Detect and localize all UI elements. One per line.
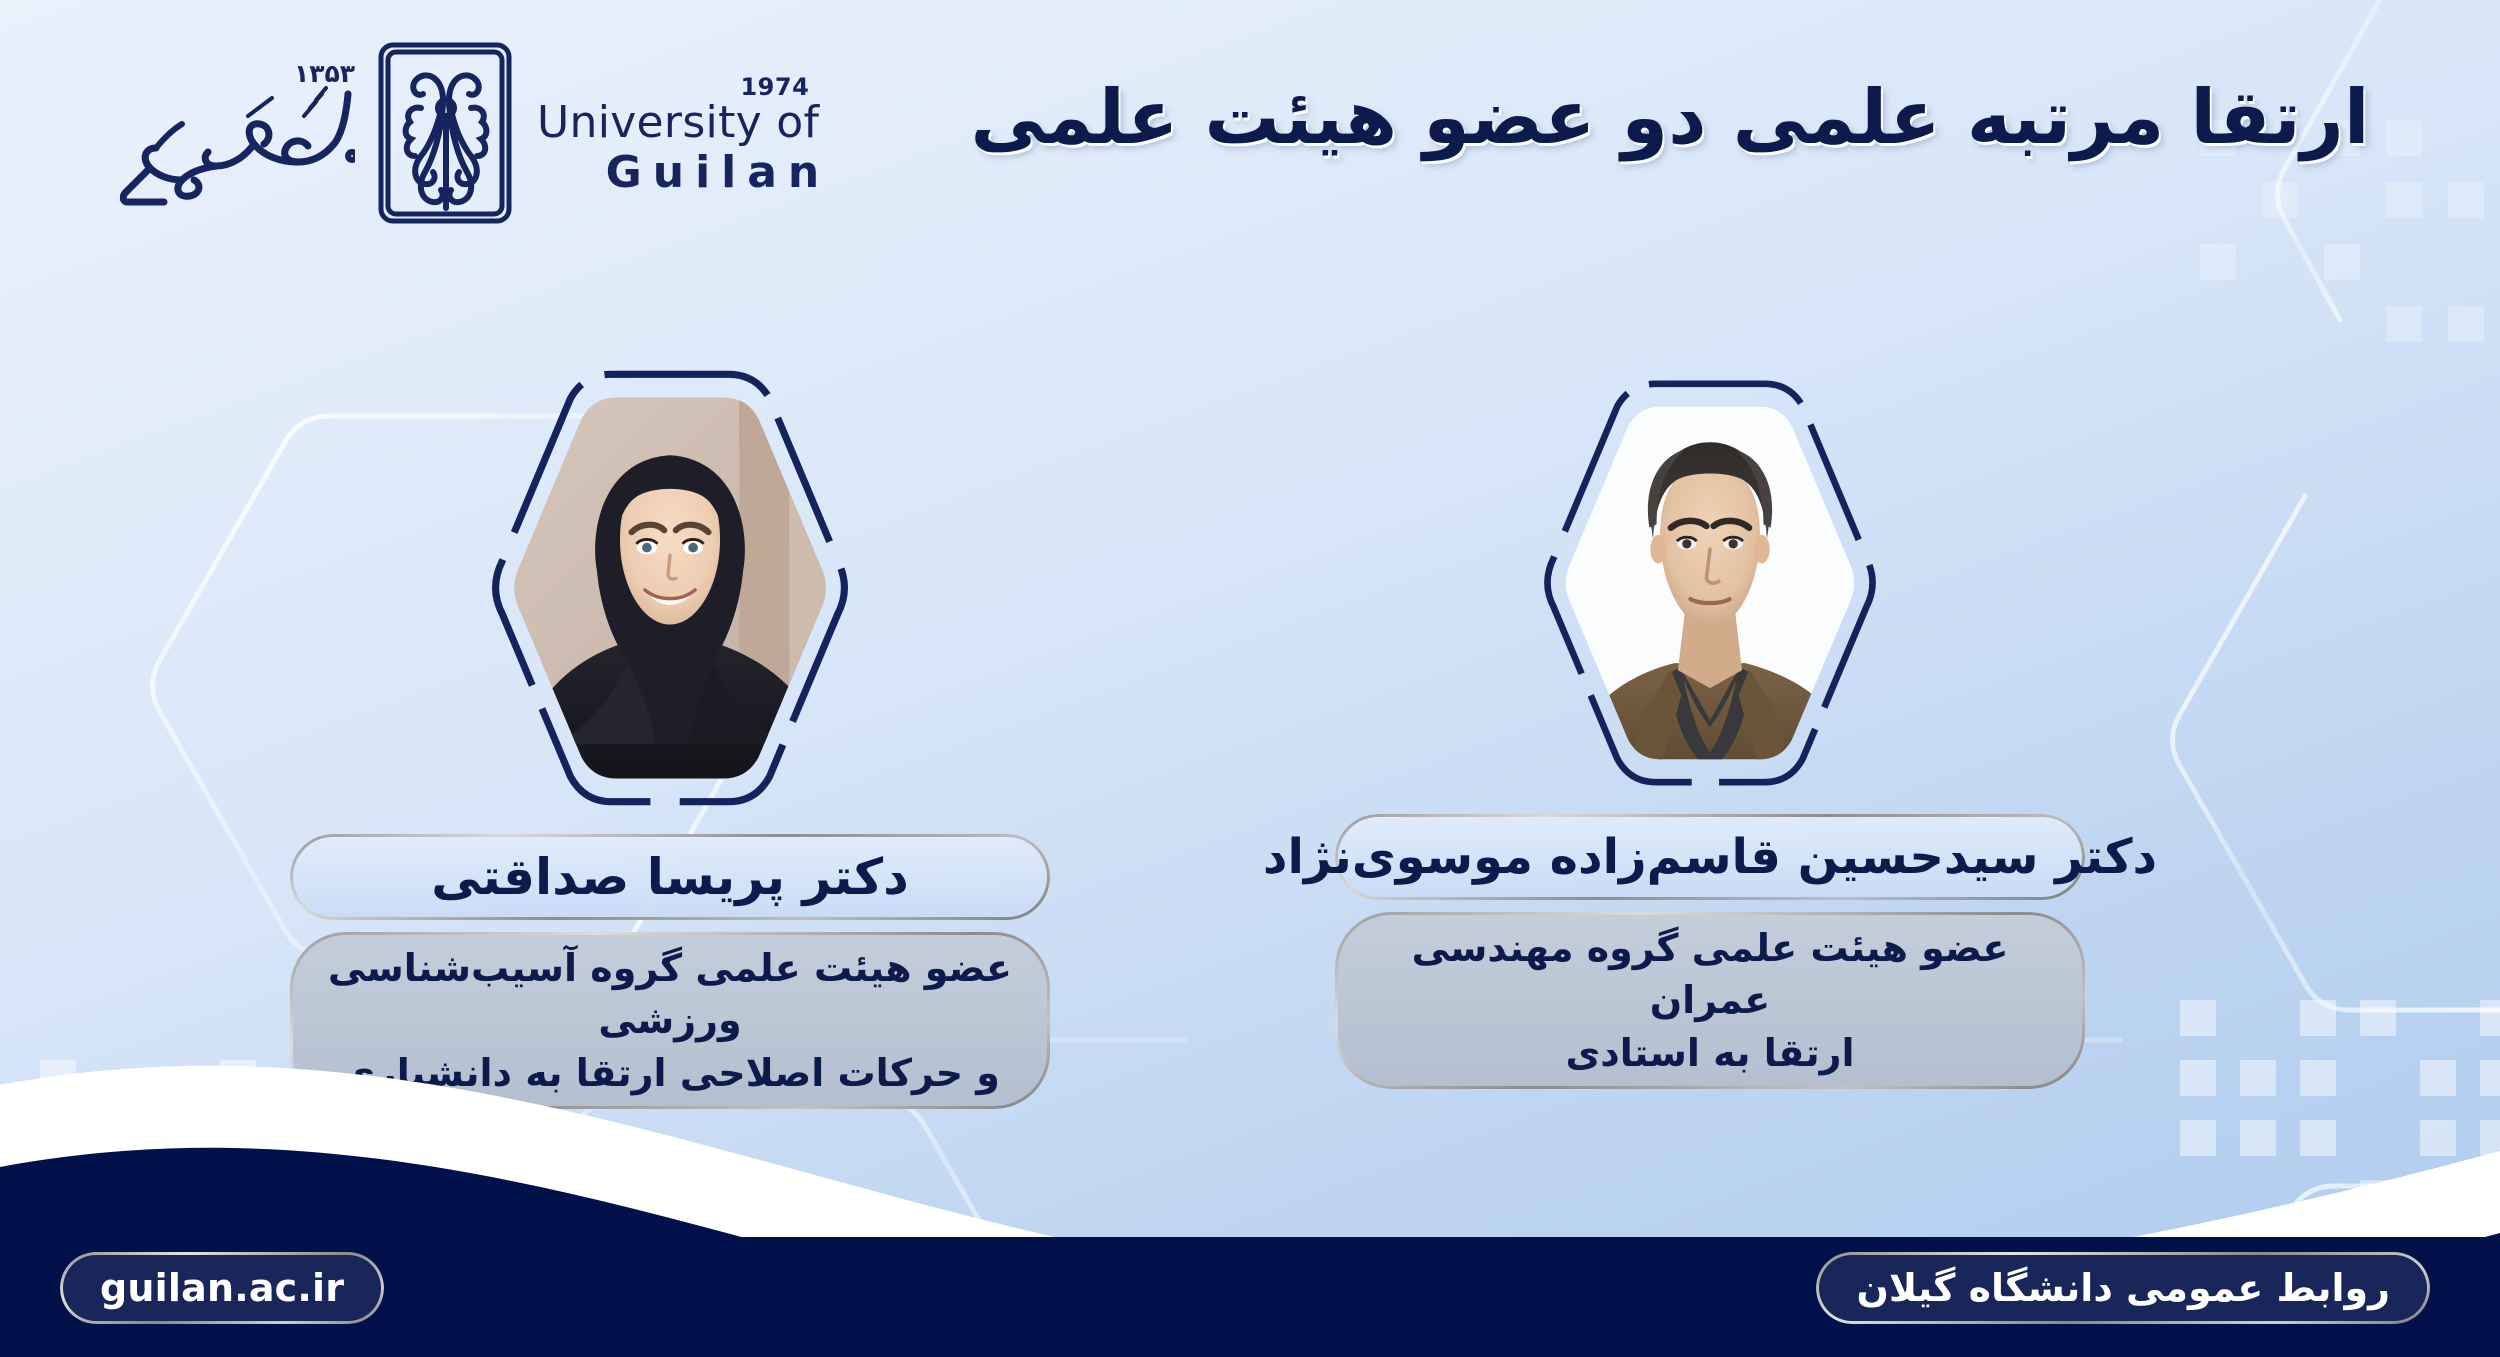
website-badge[interactable]: guilan.ac.ir bbox=[60, 1252, 384, 1324]
person-name-2: دکتر سیدحسین قاسم‌زاده موسوی‌نژاد bbox=[1263, 833, 2157, 881]
poster-canvas: 1974 University of Guilan bbox=[0, 0, 2500, 1357]
hex-frame-outline-1 bbox=[455, 368, 885, 808]
person-name-pill-1: دکتر پریسا صداقتی bbox=[290, 834, 1050, 920]
person-name-pill-2: دکتر سیدحسین قاسم‌زاده موسوی‌نژاد bbox=[1335, 814, 2085, 900]
public-relations-label: روابط عمومی دانشگاه گیلان bbox=[1856, 1269, 2390, 1307]
public-relations-badge[interactable]: روابط عمومی دانشگاه گیلان bbox=[1816, 1252, 2430, 1324]
hex-frame-outline-2 bbox=[1510, 378, 1910, 788]
website-url: guilan.ac.ir bbox=[100, 1269, 344, 1307]
person-name-1: دکتر پریسا صداقتی bbox=[431, 852, 908, 902]
hex-portrait-frame-1 bbox=[455, 368, 885, 808]
hex-portrait-frame-2 bbox=[1510, 378, 1910, 788]
